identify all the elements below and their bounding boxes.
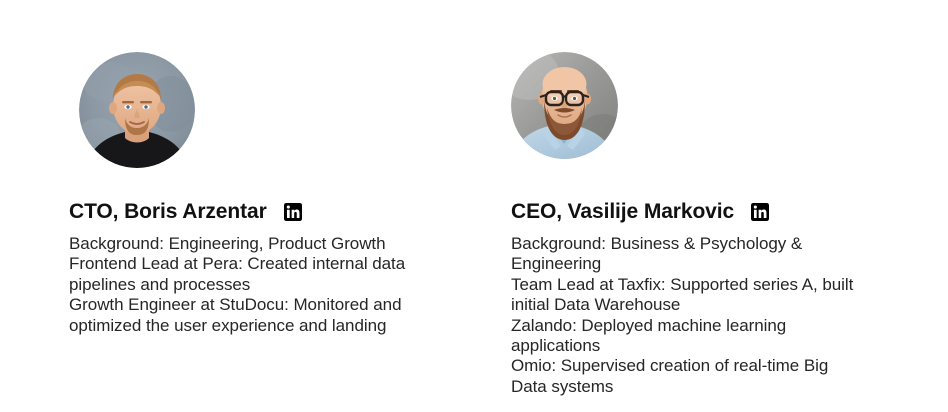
linkedin-icon[interactable]: [751, 203, 769, 221]
avatar: [511, 52, 618, 159]
profile-name-row: CEO, Vasilije Markovic: [511, 199, 861, 225]
bio-line: Growth Engineer at StuDocu: Monitored an…: [69, 295, 409, 336]
profile-card-cto: CTO, Boris Arzentar Background: Engineer…: [69, 0, 469, 336]
bio-line: Background: Engineering, Product Growth: [69, 234, 409, 254]
profile-name-row: CTO, Boris Arzentar: [69, 199, 469, 225]
bio-line: Team Lead at Taxfix: Supported series A,…: [511, 275, 856, 316]
team-profiles-section: CTO, Boris Arzentar Background: Engineer…: [0, 0, 948, 412]
bio-line: Zalando: Deployed machine learning appli…: [511, 316, 856, 357]
profile-card-ceo: CEO, Vasilije Markovic Background: Busin…: [511, 0, 861, 397]
bio-line: Background: Business & Psychology & Engi…: [511, 234, 856, 275]
profile-bio: Background: Business & Psychology & Engi…: [511, 234, 856, 397]
profile-title-and-name: CTO, Boris Arzentar: [69, 199, 267, 225]
linkedin-icon[interactable]: [284, 203, 302, 221]
bio-line: Omio: Supervised creation of real-time B…: [511, 356, 856, 397]
profile-bio: Background: Engineering, Product Growth …: [69, 234, 409, 336]
bio-line: Frontend Lead at Pera: Created internal …: [69, 254, 409, 295]
avatar: [79, 52, 195, 168]
profile-title-and-name: CEO, Vasilije Markovic: [511, 199, 734, 225]
